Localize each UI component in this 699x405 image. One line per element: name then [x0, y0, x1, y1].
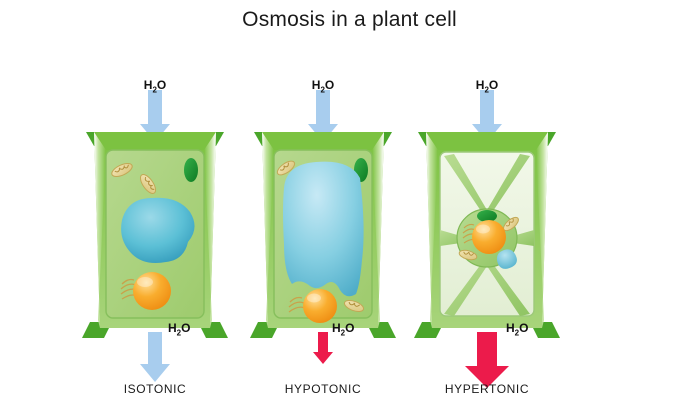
cell-graphic-hypertonic — [392, 70, 582, 400]
water-label-bottom: H2O — [332, 321, 354, 337]
nucleus-highlight — [476, 225, 490, 234]
water-label-top: H2O — [144, 78, 166, 94]
arrow-water-out — [313, 332, 333, 364]
cell-wall-top — [426, 132, 548, 150]
diagram-canvas: Osmosis in a plant cell H2O — [0, 0, 699, 405]
nucleus — [303, 289, 337, 323]
arrow-water-out — [140, 332, 170, 382]
panel-hypertonic: H2O — [392, 70, 582, 400]
chloroplast-icon — [184, 158, 198, 182]
panel-label-isotonic: ISOTONIC — [60, 382, 250, 396]
nucleus-highlight — [307, 294, 321, 303]
cell-graphic-isotonic — [60, 70, 250, 400]
page-title: Osmosis in a plant cell — [0, 8, 699, 32]
nucleus-highlight — [137, 277, 153, 287]
water-label-bottom: H2O — [506, 321, 528, 337]
panel-isotonic: H2O — [60, 70, 250, 400]
cell-wall-top — [262, 132, 384, 150]
nucleus — [133, 272, 171, 310]
water-label-top: H2O — [312, 78, 334, 94]
water-label-bottom: H2O — [168, 321, 190, 337]
cell-graphic-hypotonic — [228, 70, 418, 400]
panel-label-hypertonic: HYPERTONIC — [392, 382, 582, 396]
arrow-water-out — [465, 332, 509, 388]
panel-hypotonic: H2O — [228, 70, 418, 400]
vacuole — [283, 162, 364, 297]
panel-label-hypotonic: HYPOTONIC — [228, 382, 418, 396]
cell-wall-top — [94, 132, 216, 150]
nucleus — [472, 220, 506, 254]
water-label-top: H2O — [476, 78, 498, 94]
